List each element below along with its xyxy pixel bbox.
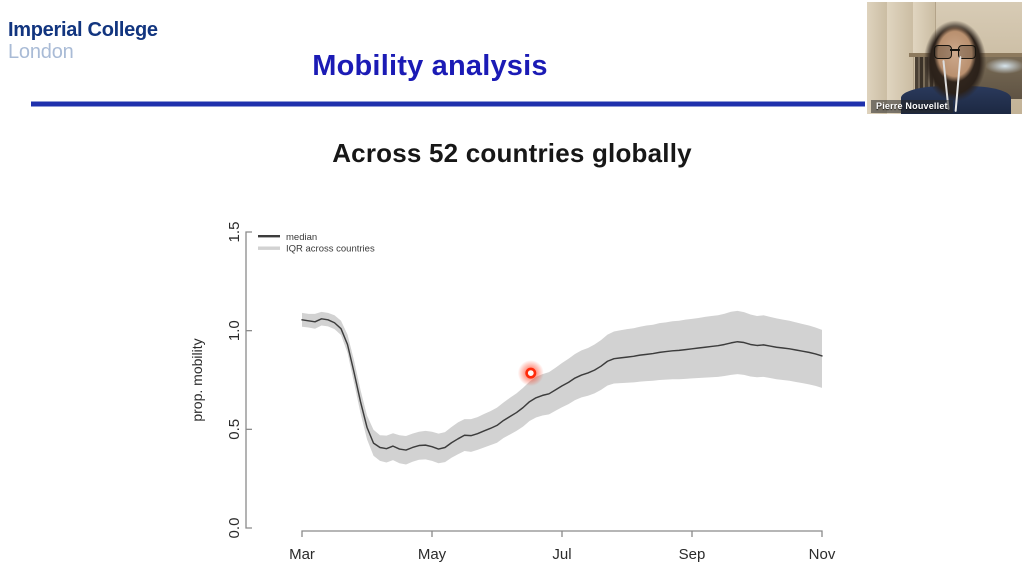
person-glasses xyxy=(934,45,976,57)
x-tick-label: Nov xyxy=(809,546,836,563)
legend-swatch xyxy=(258,235,280,237)
cabinet-panel-left xyxy=(865,0,888,116)
y-axis-ticks: 0.00.51.01.5 xyxy=(226,222,252,539)
x-tick-label: Sep xyxy=(679,546,706,563)
glasses-lens-left xyxy=(934,45,952,59)
chart-legend: medianIQR across countries xyxy=(258,232,375,255)
presentation-slide: Imperial College London Mobility analysi… xyxy=(0,0,1024,581)
legend-label: median xyxy=(286,232,317,243)
legend-swatch xyxy=(258,247,280,250)
y-axis-line xyxy=(246,232,252,528)
y-tick-label: 0.0 xyxy=(226,518,243,539)
marker-dot xyxy=(527,369,535,377)
x-tick-label: May xyxy=(418,546,447,563)
y-tick-label: 0.5 xyxy=(226,419,243,440)
annotation-marker xyxy=(518,360,544,386)
y-tick-label: 1.0 xyxy=(226,320,243,341)
participant-name-label: Pierre Nouvellet xyxy=(871,100,953,113)
y-axis-title: prop. mobility xyxy=(189,338,205,421)
x-axis: MarMayJulSepNov xyxy=(289,531,836,563)
y-tick-label: 1.5 xyxy=(226,222,243,243)
y-axis: 0.00.51.01.5 xyxy=(226,222,252,539)
x-tick-label: Mar xyxy=(289,546,315,563)
iqr-band-area xyxy=(302,311,822,465)
webcam-video-tile[interactable]: Pierre Nouvellet xyxy=(865,0,1024,116)
legend-label: IQR across countries xyxy=(286,244,375,255)
x-tick-label: Jul xyxy=(552,546,571,563)
x-axis-ticks: MarMayJulSepNov xyxy=(289,531,836,563)
